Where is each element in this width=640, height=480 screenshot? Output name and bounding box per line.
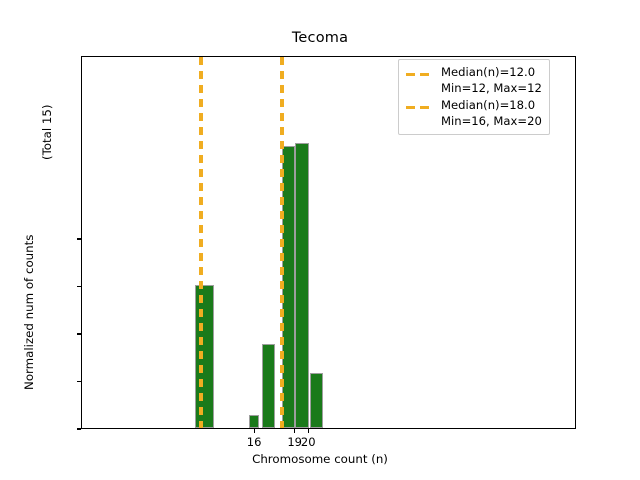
- figure-canvas: Tecoma Normalized num of counts (Total 1…: [0, 0, 640, 480]
- y-axis-total-label: (Total 15): [40, 104, 54, 160]
- chart-title: Tecoma: [0, 30, 640, 46]
- legend-entry-texts: Median(n)=18.0 Min=16, Max=20: [441, 98, 542, 129]
- bar: [282, 146, 295, 428]
- x-tick-mark: [308, 429, 309, 433]
- legend-entry-line1: Median(n)=18.0: [441, 98, 542, 114]
- x-tick-label: 20: [301, 435, 316, 449]
- legend-entry[interactable]: Median(n)=12.0 Min=12, Max=12: [406, 65, 542, 96]
- legend-entry-line2: Min=12, Max=12: [441, 81, 542, 97]
- median-vline: [199, 57, 202, 428]
- bar: [249, 415, 259, 428]
- bar: [262, 344, 276, 428]
- y-tick-mark: [77, 238, 81, 239]
- x-tick-mark: [254, 429, 255, 433]
- legend-entry-line2: Min=16, Max=20: [441, 114, 542, 130]
- bar: [195, 285, 214, 428]
- y-tick-mark: [77, 428, 81, 429]
- x-axis-label: Chromosome count (n): [0, 452, 640, 466]
- legend: Median(n)=12.0 Min=12, Max=12 Median(n)=…: [398, 59, 550, 135]
- y-tick-mark: [77, 286, 81, 287]
- y-tick-mark: [77, 381, 81, 382]
- y-tick-mark: [77, 333, 81, 334]
- median-vline: [280, 57, 283, 428]
- legend-dash-icon: [406, 99, 434, 114]
- x-tick-label: 19: [287, 435, 302, 449]
- legend-entry[interactable]: Median(n)=18.0 Min=16, Max=20: [406, 98, 542, 129]
- legend-entry-texts: Median(n)=12.0 Min=12, Max=12: [441, 65, 542, 96]
- x-tick-mark: [294, 429, 295, 433]
- y-axis-label: Normalized num of counts: [22, 235, 36, 390]
- legend-entry-line1: Median(n)=12.0: [441, 65, 542, 81]
- legend-dash-icon: [406, 66, 434, 81]
- x-tick-label: 16: [247, 435, 262, 449]
- bar: [295, 143, 309, 428]
- bar: [310, 373, 323, 428]
